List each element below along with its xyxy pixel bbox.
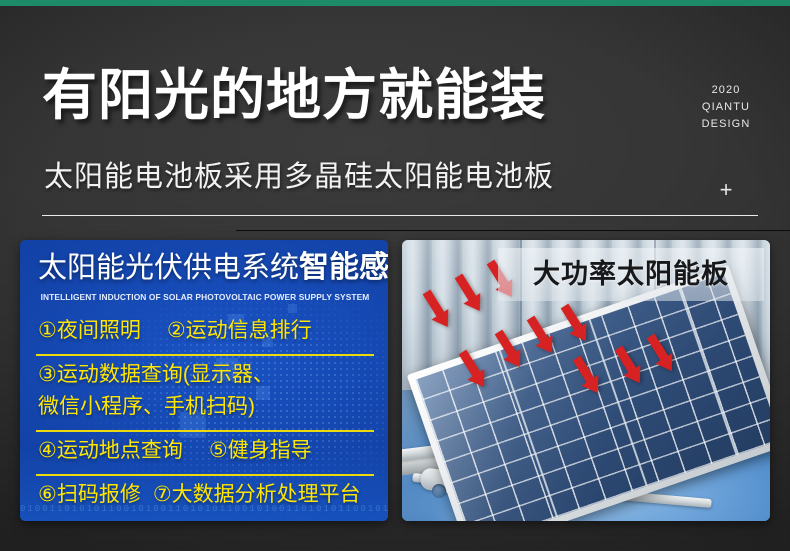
features-title-bold: 智能感应 bbox=[299, 251, 388, 284]
decor-square bbox=[288, 304, 297, 313]
feature-divider bbox=[36, 474, 374, 476]
feature-item-6: ⑥扫码报修 bbox=[38, 483, 141, 506]
page-headline: 有阳光的地方就能装 bbox=[42, 68, 546, 123]
feature-item-2: ②运动信息排行 bbox=[167, 319, 312, 342]
features-title-normal: 太阳能光伏供电系统 bbox=[38, 252, 299, 284]
feature-item-5: ⑤健身指导 bbox=[209, 439, 312, 462]
features-panel-subtitle-en: INTELLIGENT INDUCTION OF SOLAR PHOTOVOLT… bbox=[38, 292, 372, 302]
feature-item-3-line1: ③运动数据查询(显示器、 bbox=[38, 363, 274, 386]
brand-name: QIANTU bbox=[686, 99, 766, 116]
bracket-hole bbox=[432, 484, 446, 498]
feature-item-4: ④运动地点查询 bbox=[38, 439, 183, 462]
plus-icon: + bbox=[714, 178, 738, 202]
feature-row: ①夜间照明②运动信息排行 bbox=[38, 316, 372, 346]
feature-row: ⑥扫码报修⑦大数据分析处理平台 bbox=[38, 480, 372, 510]
feature-item-1: ①夜间照明 bbox=[38, 319, 141, 342]
feature-row: 微信小程序、手机扫码) bbox=[38, 392, 372, 422]
feature-row: ④运动地点查询⑤健身指导 bbox=[38, 436, 372, 466]
feature-divider bbox=[36, 354, 374, 356]
brand-year: 2020 bbox=[686, 82, 766, 99]
page-subheadline: 太阳能电池板采用多晶硅太阳能电池板 bbox=[44, 163, 554, 192]
feature-row: ③运动数据查询(显示器、 bbox=[38, 360, 372, 390]
product-photo-panel: 大功率太阳能板 bbox=[402, 240, 770, 521]
brand-word: DESIGN bbox=[686, 116, 766, 133]
header-divider-light bbox=[42, 215, 758, 216]
feature-divider bbox=[36, 430, 374, 432]
features-panel: 0100110101011001010011010101100101001101… bbox=[20, 240, 388, 521]
feature-item-7: ⑦大数据分析处理平台 bbox=[153, 483, 361, 506]
brand-stamp: 2020 QIANTU DESIGN bbox=[686, 82, 766, 133]
header-divider-dark bbox=[236, 230, 790, 231]
feature-item-3-line2: 微信小程序、手机扫码) bbox=[38, 395, 255, 418]
product-detail-page: 有阳光的地方就能装 太阳能电池板采用多晶硅太阳能电池板 2020 QIANTU … bbox=[0, 0, 790, 551]
top-accent-bar bbox=[0, 0, 790, 6]
photo-title: 大功率太阳能板 bbox=[498, 254, 764, 294]
features-panel-title: 太阳能光伏供电系统智能感应 bbox=[38, 253, 388, 283]
